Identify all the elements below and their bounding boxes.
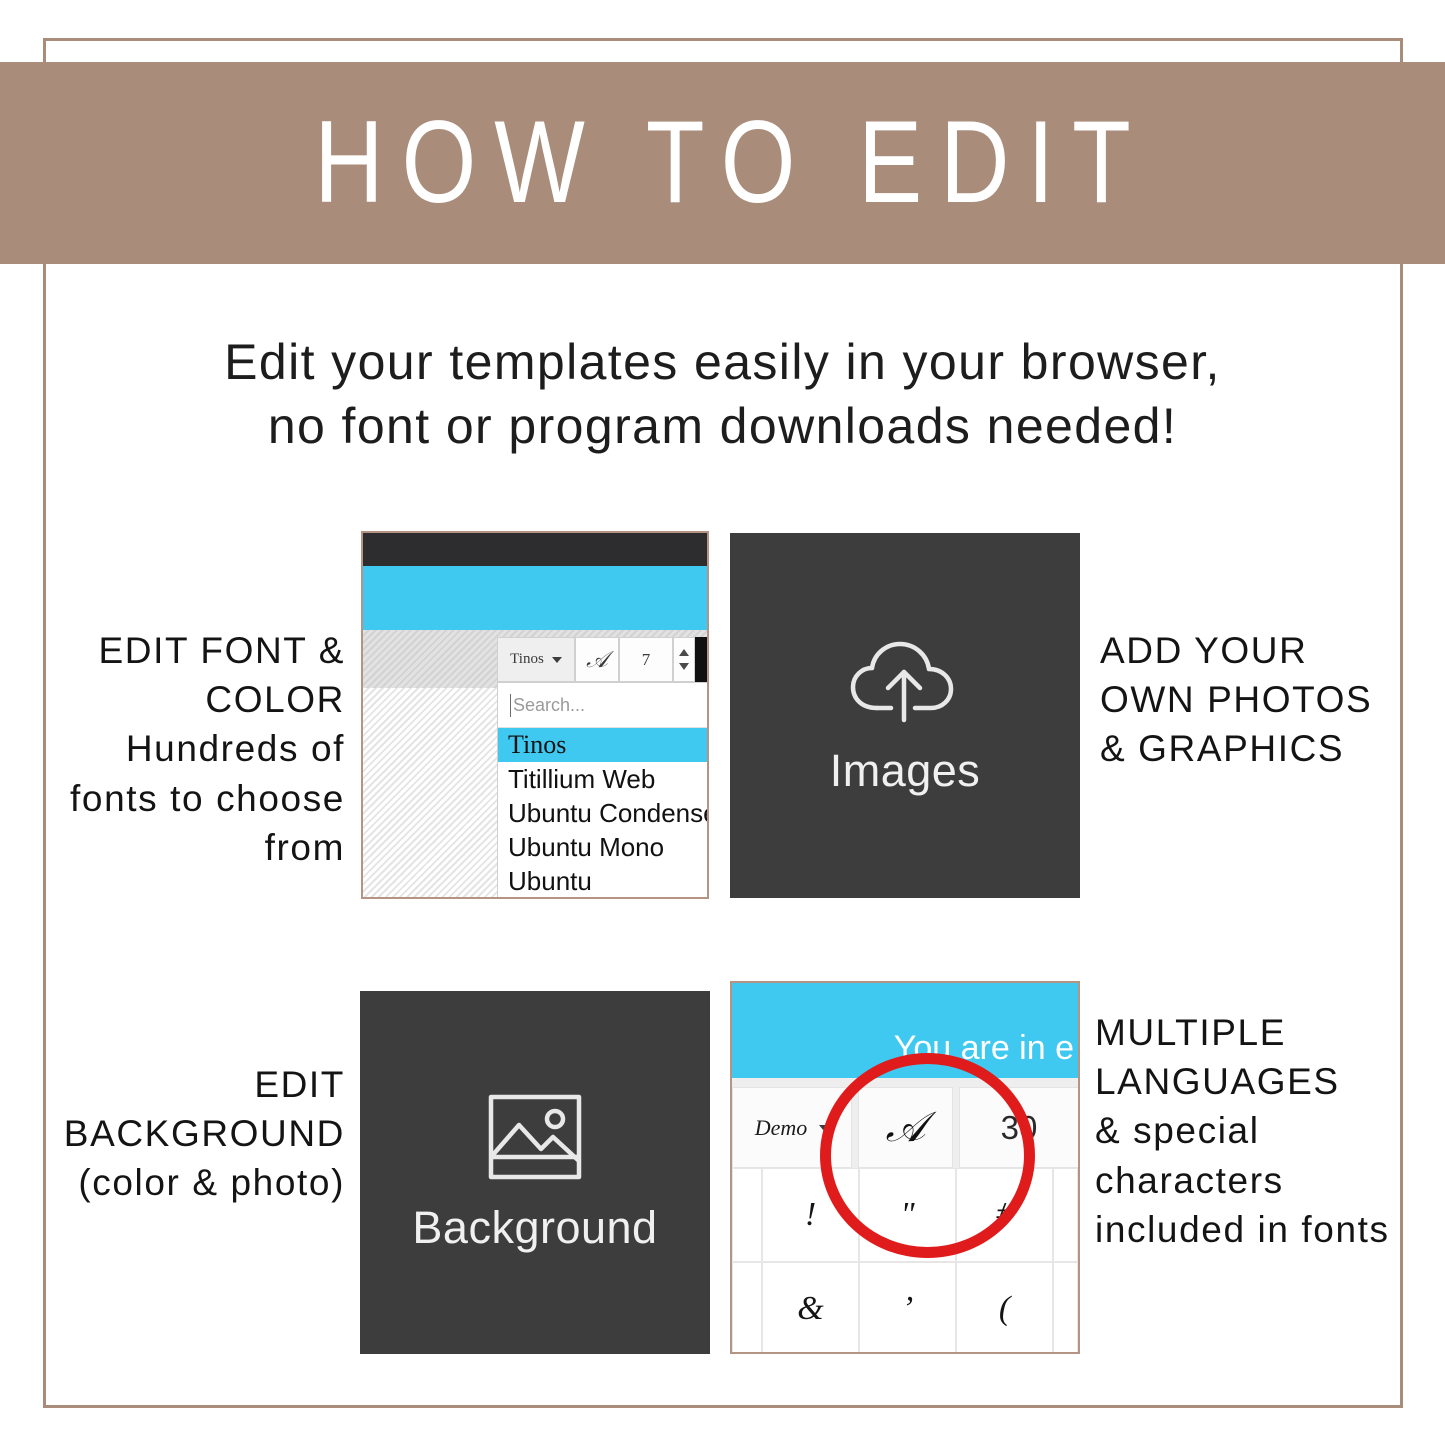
font-list-item[interactable]: Ubuntu Mono [498,830,709,864]
character-cell[interactable]: ( [956,1262,1053,1354]
font-editor-screenshot: Tinos 𝒜 7 Search... Tinos [361,531,709,899]
character-cell[interactable] [732,1168,762,1262]
character-cell[interactable] [1053,1168,1078,1262]
background-tile-label: Background [412,1202,657,1254]
script-a-icon: 𝒜 [886,1104,926,1152]
caption-heading: EDIT FONT & COLOR [50,626,345,724]
font-list-item-label: Titillium Web [508,764,655,795]
font-size-value: 30 [1001,1109,1038,1147]
font-family-list[interactable]: Search... Tinos Titillium Web Ubuntu Con… [497,682,709,899]
character-cell[interactable]: ’ [859,1262,956,1354]
special-characters-button[interactable]: 𝒜 [575,637,619,682]
font-list-item[interactable]: Ubuntu [498,864,709,898]
background-tile-screenshot: Background [360,991,710,1354]
character-cell[interactable]: ! [762,1168,859,1262]
character-cell[interactable]: " [859,1168,956,1262]
chevron-down-icon [819,1125,829,1131]
font-search-placeholder: Search... [510,695,585,716]
caption-body: & special characters included in fonts [1095,1106,1395,1254]
character-grid: ! " # & ’ ( [732,1168,1078,1354]
special-characters-button[interactable]: 𝒜 [858,1087,953,1168]
caption-heading: MULTIPLE LANGUAGES [1095,1008,1395,1106]
caption-add-photos: ADD YOUR OWN PHOTOS & GRAPHICS [1100,626,1400,774]
caption-heading: EDIT BACKGROUND [35,1060,345,1158]
toolbar-edge [695,637,707,682]
font-list-item-label: Ubuntu Mono [508,832,664,863]
caption-edit-font-color: EDIT FONT & COLOR Hundreds of fonts to c… [50,626,345,872]
header-banner: HOW TO EDIT [0,62,1445,264]
font-size-stepper[interactable] [673,637,695,682]
subtitle: Edit your templates easily in your brows… [70,330,1375,458]
caption-edit-background: EDIT BACKGROUND (color & photo) [35,1060,345,1208]
character-cell[interactable]: # [956,1168,1053,1262]
text-toolbar: Demo 𝒜 30 [732,1078,1078,1168]
character-cell[interactable] [1053,1262,1078,1354]
app-title-bar [363,533,707,566]
font-family-value: Demo [755,1115,808,1141]
caption-heading: ADD YOUR OWN PHOTOS & GRAPHICS [1100,626,1400,774]
font-size-value: 7 [642,650,651,670]
font-list-item[interactable]: Tinos [498,728,709,762]
app-canvas-banner: You are in e [732,983,1078,1078]
character-cell[interactable] [732,1262,762,1354]
script-a-icon: 𝒜 [586,647,608,673]
font-family-dropdown[interactable]: Demo [732,1087,852,1168]
stepper-down-icon[interactable] [679,663,689,670]
subtitle-line-2: no font or program downloads needed! [70,394,1375,458]
caption-multiple-languages: MULTIPLE LANGUAGES & special characters … [1095,1008,1395,1254]
subtitle-line-1: Edit your templates easily in your brows… [70,330,1375,394]
font-list-item-label: Tinos [508,730,566,760]
images-tile-label: Images [830,745,981,797]
caption-body: Hundreds of fonts to choose from [50,724,345,872]
canvas-text: You are in e [894,1029,1074,1068]
font-list-item-label: Ubuntu [508,866,592,897]
picture-icon [485,1091,585,1188]
character-cell[interactable]: & [762,1262,859,1354]
app-canvas-banner [363,566,707,630]
images-tile-screenshot: Images [730,533,1080,898]
page-title: HOW TO EDIT [296,96,1148,230]
font-size-input[interactable]: 30 [959,1087,1078,1168]
cloud-upload-icon [841,634,969,735]
font-list-item-label: Ubuntu Condensed [508,798,709,829]
font-search-input[interactable]: Search... [498,683,709,728]
text-toolbar: Tinos 𝒜 7 [497,637,707,682]
caption-body: (color & photo) [35,1158,345,1207]
font-size-input[interactable]: 7 [619,637,673,682]
chevron-down-icon [552,657,562,663]
font-list-item[interactable]: Ubuntu Condensed [498,796,709,830]
stepper-up-icon[interactable] [679,649,689,656]
font-family-value: Tinos [510,651,544,668]
page-root: HOW TO EDIT Edit your templates easily i… [0,0,1445,1445]
text-cursor-icon [510,694,511,717]
special-characters-screenshot: You are in e Demo 𝒜 30 ! " # & ’ ( [730,981,1080,1354]
font-family-dropdown[interactable]: Tinos [497,637,575,682]
font-list-item[interactable]: Titillium Web [498,762,709,796]
